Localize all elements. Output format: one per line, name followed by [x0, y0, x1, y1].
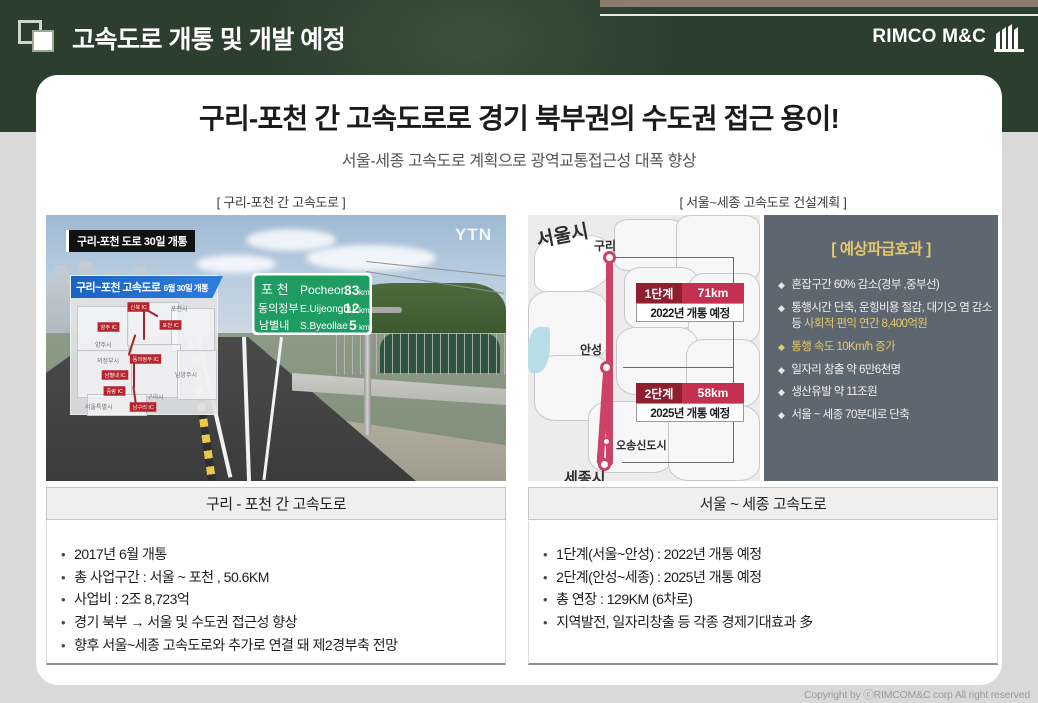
slide-root: 고속도로 개통 및 개발 예정 RIMCO M&C 구리-포천 간 고속도로로 … [0, 0, 1038, 703]
inset-place: 양주시 [95, 340, 112, 349]
cloud [196, 255, 276, 273]
stage-note-1: 2022년 개통 예정 [636, 303, 744, 322]
inset-place: 포천시 [171, 304, 188, 313]
stage-note-2: 2025년 개통 예정 [636, 403, 744, 422]
stage-km-2: 58km [682, 383, 744, 403]
right-bullet-list: •1단계(서울~안성) : 2022년 개통 예정 •2단계(안성~세종) : … [528, 521, 998, 665]
svg-text:동의정부: 동의정부 [258, 302, 298, 315]
list-item: •2017년 6월 개통 [61, 543, 491, 566]
svg-text:12: 12 [344, 300, 360, 316]
cloud [246, 229, 336, 251]
broadcaster-watermark: YTN [455, 225, 492, 245]
svg-text:km: km [359, 288, 370, 297]
left-panel-label: [ 구리-포천 간 고속도로 ] [46, 192, 516, 211]
bullet-dot-icon: • [61, 544, 65, 565]
effect-text-line2-highlight: 사회적 편익 연간 8,400억원 [804, 318, 927, 330]
brand-name: RIMCO M&C [872, 26, 986, 48]
map-region [614, 219, 684, 271]
effect-item: ◆ 통행시간 단축, 운힝비용 절감, 대기오 염 감소등 사회적 편익 연간 … [778, 300, 992, 333]
list-item: •총 사업구간 : 서울 ~ 포천 , 50.6KM [61, 566, 491, 589]
inset-chip: 양주 IC [98, 322, 120, 332]
road-direction-sign: 포 천 Pocheon 33 km 동의정부 E.Uijeongbu 12 km… [252, 273, 372, 335]
inset-banner-main: 구리~포천 고속도로 [76, 282, 160, 294]
effect-text: 통행 속도 10Km/h 증가 [791, 339, 895, 356]
svg-text:km: km [359, 323, 370, 332]
route-node-osong [602, 437, 611, 446]
svg-text:Pocheon: Pocheon [300, 283, 347, 297]
bullet-dot-icon: • [61, 567, 65, 588]
inset-place: 의정부시 [97, 356, 119, 365]
effect-text: 서울 ~ 세종 70분대로 단축 [791, 407, 909, 424]
list-item-text: 경기 북부 → 서울 및 수도권 접근성 향상 [74, 611, 297, 634]
dimension-line-bottom [622, 462, 734, 463]
page-title: 고속도로 개통 및 개발 예정 [72, 20, 345, 56]
effect-text: 일자리 창출 약 6만6천명 [791, 362, 900, 379]
map-region [131, 344, 181, 398]
dimension-line-mid [623, 367, 733, 368]
map-label-guri: 구리 [594, 237, 616, 254]
bullet-dot-icon: • [543, 567, 547, 588]
inset-chip: 중랑 IC [104, 386, 126, 396]
copyright-text: Copyright by ⓒRIMCOM&C corp All right re… [804, 687, 1030, 702]
diamond-bullet-icon: ◆ [778, 277, 784, 293]
expected-effects-title: [ 예상파급효과 ] [764, 237, 998, 259]
slide-subheadline: 서울-세종 고속도로 계획으로 광역교통접근성 대폭 향상 [36, 147, 1002, 171]
svg-text:33: 33 [344, 282, 360, 298]
effect-item: ◆ 통행 속도 10Km/h 증가 [778, 339, 992, 356]
inset-place: 남양주시 [175, 370, 197, 379]
content-card: 구리-포천 간 고속도로로 경기 북부권의 수도권 접근 용이! 서울-세종 고… [36, 75, 1002, 685]
inset-place: 서울특별시 [85, 402, 113, 411]
diamond-bullet-icon: ◆ [778, 339, 784, 355]
right-panel-label: [ 서울~세종 고속도로 건설계획 ] [528, 192, 998, 211]
expected-effects-box: [ 예상파급효과 ] ◆ 혼잡구간 60% 감소(경부 ,중부선) ◆ 통행시간… [764, 215, 998, 481]
map-label-osong: 오송신도시 [616, 437, 667, 453]
list-item: •2단계(안성~세종) : 2025년 개통 예정 [543, 566, 983, 589]
diamond-bullet-icon: ◆ [778, 300, 784, 316]
inset-chip: 신북 IC [128, 302, 150, 312]
bullet-dot-icon: • [61, 612, 65, 633]
news-badge: 구리-포천 도로 30일 개통 [66, 230, 195, 252]
sejong-route-map: 서울시 구리 안성 오송신도시 세종시 1단계 71km 2022년 개통 예정… [528, 215, 760, 481]
bullet-dot-icon: • [543, 589, 547, 610]
effect-text: 혼잡구간 60% 감소(경부 ,중부선) [791, 277, 939, 294]
stage-callout-2: 2단계 58km 2025년 개통 예정 [636, 383, 744, 422]
stage-header-2: 2단계 58km [636, 383, 744, 403]
list-item: •향후 서울~세종 고속도로와 추가로 연결 돼 제2경부축 전망 [61, 634, 491, 657]
map-label-sejong: 세종시 [564, 467, 605, 481]
header-accent-bar [600, 0, 1038, 7]
inset-chip: 남구리 IC [130, 402, 157, 412]
inset-chip: 동의정부 IC [130, 354, 162, 364]
diamond-bullet-icon: ◆ [778, 384, 784, 400]
inset-map-body: 신북 IC 포천 IC 양주 IC 동의정부 IC 남별내 IC 중랑 IC 남… [71, 298, 219, 416]
list-item: •총 연장 : 129KM (6차로) [543, 588, 983, 611]
stage-header-1: 1단계 71km [636, 283, 744, 303]
svg-text:남별내: 남별내 [259, 319, 289, 332]
expected-effects-list: ◆ 혼잡구간 60% 감소(경부 ,중부선) ◆ 통행시간 단축, 운힝비용 절… [778, 277, 992, 430]
list-item-text: 지역발전, 일자리창출 등 각종 경제기대효과 多 [556, 611, 813, 634]
stage-tag-1: 1단계 [636, 283, 682, 303]
effect-item: ◆ 일자리 창출 약 6만6천명 [778, 362, 992, 379]
inset-chip: 남별내 IC [102, 370, 129, 380]
bullet-dot-icon: • [543, 612, 547, 633]
diamond-bullet-icon: ◆ [778, 407, 784, 423]
slide-headline: 구리-포천 간 고속도로로 경기 북부권의 수도권 접근 용이! [36, 97, 1002, 137]
bullet-dot-icon: • [61, 635, 65, 656]
effect-text: 통행시간 단축, 운힝비용 절감, 대기오 염 감소등 사회적 편익 연간 8,… [791, 300, 992, 333]
svg-text:S.Byeollae: S.Byeollae [300, 321, 348, 332]
map-label-anseong: 안성 [580, 341, 602, 358]
route-node-anseong [600, 361, 613, 374]
list-item: •지역발전, 일자리창출 등 각종 경제기대효과 多 [543, 611, 983, 634]
header-divider-line [600, 14, 1038, 16]
effect-text-line1: 통행시간 단축, 운힝비용 절감, 대기오 [791, 302, 956, 314]
list-item: •1단계(서울~안성) : 2022년 개통 예정 [543, 543, 983, 566]
route-segment [143, 310, 145, 340]
list-item-text: 총 연장 : 129KM (6차로) [556, 588, 692, 611]
list-item-text: 2단계(안성~세종) : 2025년 개통 예정 [556, 566, 762, 589]
inset-map-banner: 구리~포천 고속도로6월 30일 개통 [71, 276, 223, 298]
list-item-text: 사업비 : 2조 8,723억 [74, 588, 189, 611]
documents-icon [18, 20, 60, 54]
highway-photo: 포 천 Pocheon 33 km 동의정부 E.Uijeongbu 12 km… [46, 215, 506, 481]
svg-text:5: 5 [349, 317, 357, 333]
bullet-dot-icon: • [61, 589, 65, 610]
inset-place: 구리시 [147, 392, 164, 401]
list-item-text: 총 사업구간 : 서울 ~ 포천 , 50.6KM [74, 566, 269, 589]
list-item-text: 향후 서울~세종 고속도로와 추가로 연결 돼 제2경부축 전망 [74, 634, 397, 657]
stage-km-1: 71km [682, 283, 744, 303]
list-item: •사업비 : 2조 8,723억 [61, 588, 491, 611]
effect-text: 생산유발 약 11조원 [791, 384, 877, 401]
stage-tag-2: 2단계 [636, 383, 682, 403]
list-item: •경기 북부 → 서울 및 수도권 접근성 향상 [61, 611, 491, 634]
bullet-dot-icon: • [543, 544, 547, 565]
inset-banner-sub: 6월 30일 개통 [163, 283, 208, 293]
building-icon [992, 24, 1026, 52]
left-caption-bar: 구리 - 포천 간 고속도로 [46, 487, 506, 520]
inset-route-map: 구리~포천 고속도로6월 30일 개통 신북 IC 포천 [70, 275, 218, 415]
effect-item: ◆ 혼잡구간 60% 감소(경부 ,중부선) [778, 277, 992, 294]
roadside-fence [336, 333, 506, 375]
list-item-text: 2017년 6월 개통 [74, 543, 167, 566]
left-bullet-list: •2017년 6월 개통 •총 사업구간 : 서울 ~ 포천 , 50.6KM … [46, 521, 506, 665]
dimension-line-top [614, 257, 734, 258]
diamond-bullet-icon: ◆ [778, 362, 784, 378]
documents-icon-front-square [32, 30, 54, 52]
svg-text:km: km [359, 306, 370, 315]
right-caption-bar: 서울 ~ 세종 고속도로 [528, 487, 998, 520]
stage-callout-1: 1단계 71km 2022년 개통 예정 [636, 283, 744, 322]
list-item-text: 1단계(서울~안성) : 2022년 개통 예정 [556, 543, 762, 566]
inset-chip: 포천 IC [160, 320, 182, 330]
effect-item: ◆ 생산유발 약 11조원 [778, 384, 992, 401]
effect-item: ◆ 서울 ~ 세종 70분대로 단축 [778, 407, 992, 424]
svg-text:포 천: 포 천 [261, 282, 289, 297]
